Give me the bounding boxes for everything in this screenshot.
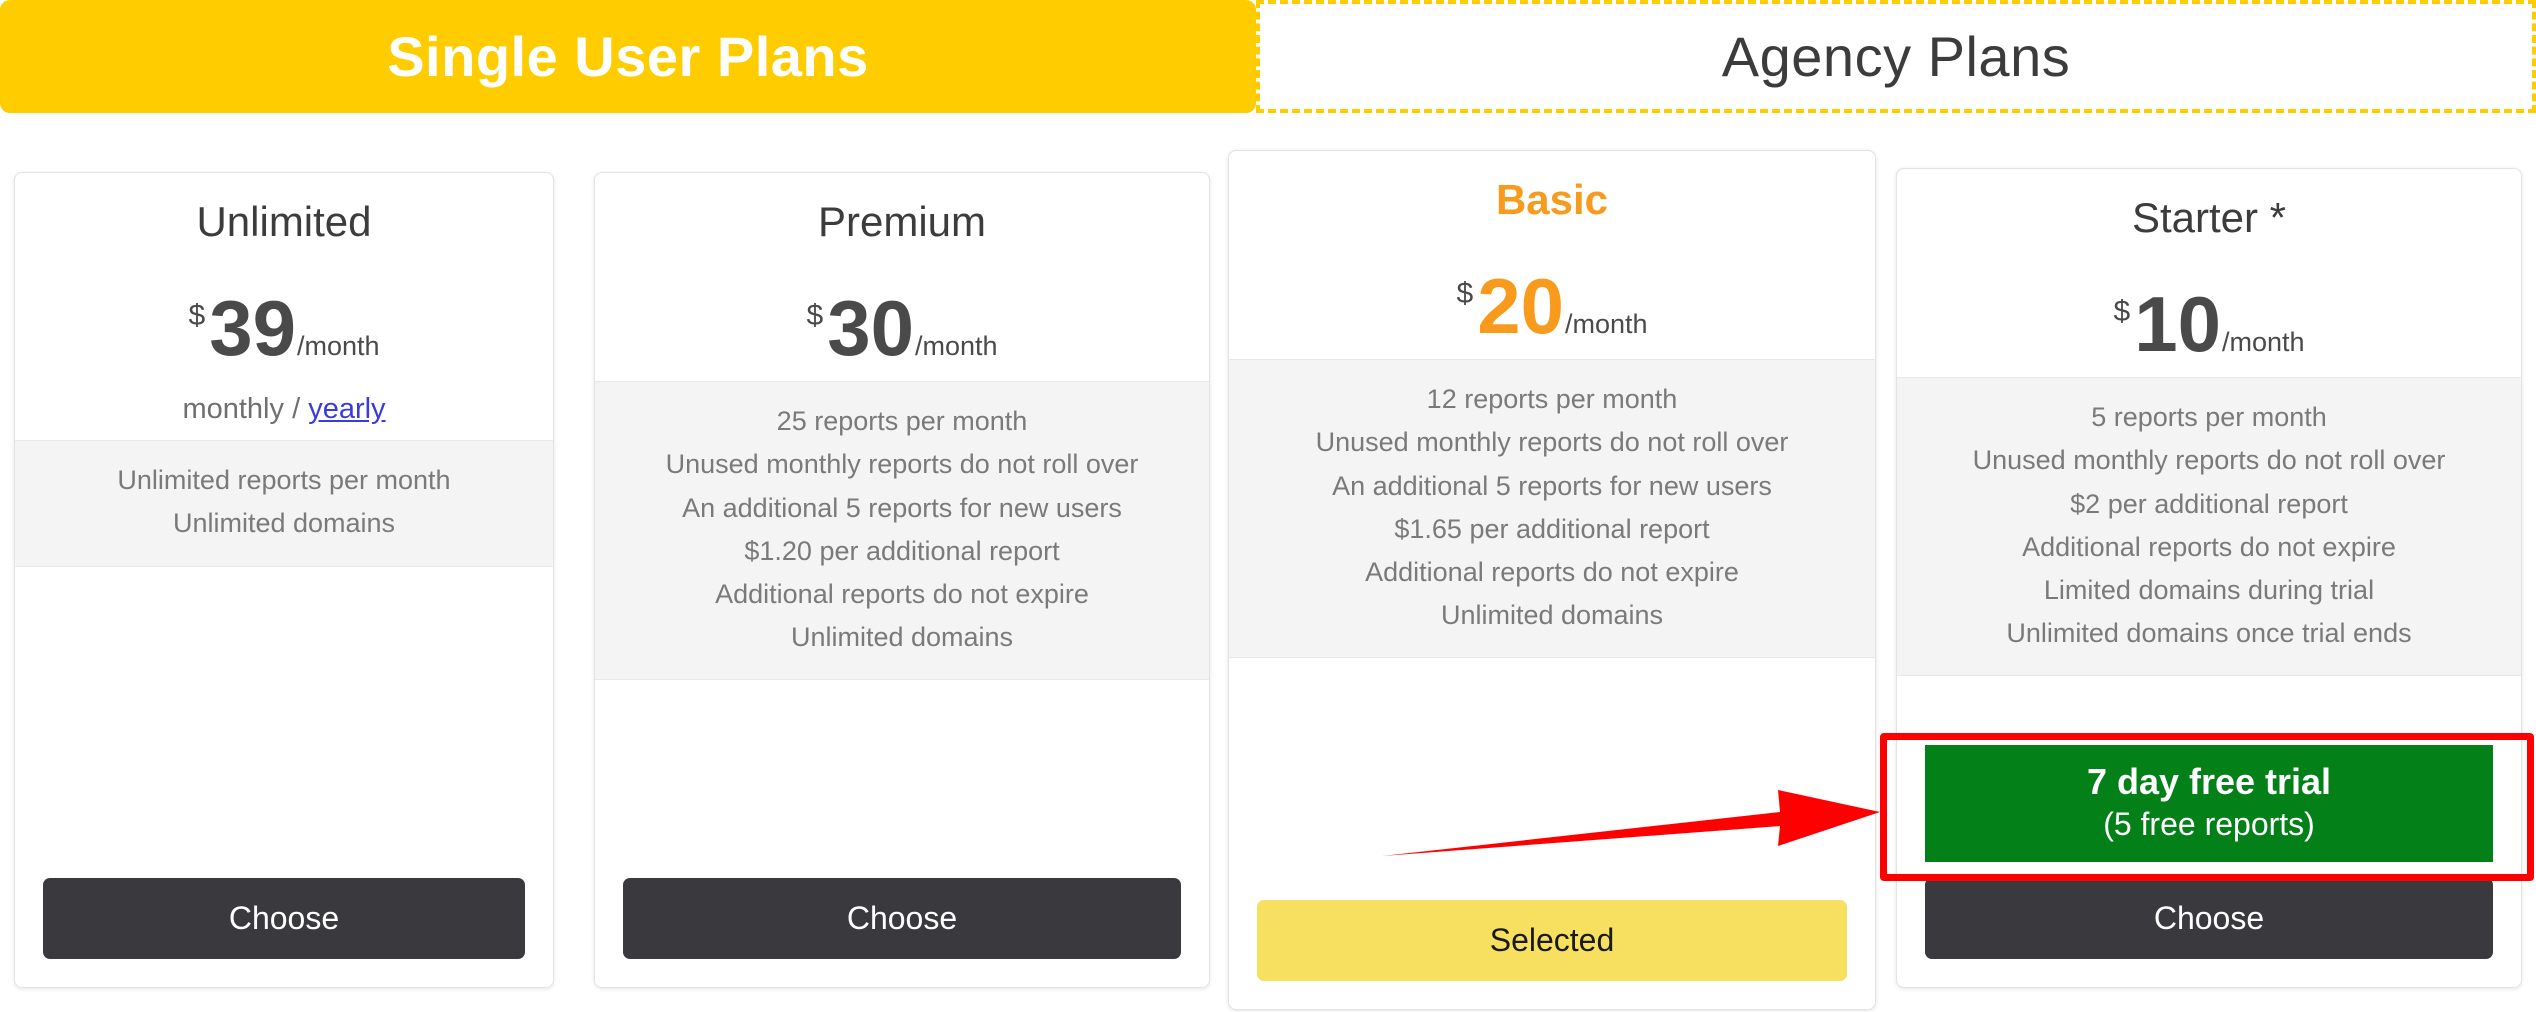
price-period: /month <box>1565 309 1648 340</box>
feature-item: Unused monthly reports do not roll over <box>1245 421 1859 464</box>
plan-price: $ 30 /month <box>615 289 1189 367</box>
selected-button[interactable]: Selected <box>1257 900 1847 981</box>
plan-features: 25 reports per month Unused monthly repo… <box>595 381 1209 680</box>
plan-price: $ 20 /month <box>1249 267 1855 345</box>
feature-item: An additional 5 reports for new users <box>611 487 1193 530</box>
plan-actions: 7 day free trial (5 free reports) Choose <box>1897 676 2521 987</box>
billing-monthly-label: monthly <box>182 393 284 425</box>
plan-actions: Selected <box>1229 658 1875 1009</box>
feature-item: 5 reports per month <box>1913 396 2505 439</box>
plan-features: 12 reports per month Unused monthly repo… <box>1229 359 1875 658</box>
billing-toggle: monthly / yearly <box>35 393 533 426</box>
feature-item: Unlimited domains <box>31 502 537 545</box>
price-amount: 10 <box>2134 285 2221 363</box>
currency-symbol: $ <box>189 299 206 333</box>
plan-title: Premium <box>615 199 1189 245</box>
feature-item: Limited domains during trial <box>1913 569 2505 612</box>
pricing-cards: Unlimited $ 39 /month monthly / yearly U… <box>0 0 2536 1012</box>
feature-item: $1.20 per additional report <box>611 530 1193 573</box>
free-trial-button[interactable]: 7 day free trial (5 free reports) <box>1925 745 2493 862</box>
plan-features: Unlimited reports per month Unlimited do… <box>15 440 553 566</box>
price-amount: 30 <box>827 289 914 367</box>
plan-title: Basic <box>1249 177 1855 223</box>
plan-title: Starter * <box>1917 195 2501 241</box>
plan-actions: Choose <box>15 567 553 987</box>
feature-item: Additional reports do not expire <box>611 573 1193 616</box>
plan-features: 5 reports per month Unused monthly repor… <box>1897 377 2521 676</box>
price-amount: 20 <box>1477 267 1564 345</box>
billing-separator: / <box>292 393 300 425</box>
feature-item: $2 per additional report <box>1913 483 2505 526</box>
feature-item: An additional 5 reports for new users <box>1245 465 1859 508</box>
feature-item: Unlimited domains once trial ends <box>1913 612 2505 655</box>
currency-symbol: $ <box>2114 295 2131 329</box>
plan-header: Starter * $ 10 /month <box>1897 169 2521 377</box>
plan-header: Basic $ 20 /month <box>1229 151 1875 359</box>
currency-symbol: $ <box>1457 277 1474 311</box>
feature-item: Additional reports do not expire <box>1245 551 1859 594</box>
choose-button[interactable]: Choose <box>1925 878 2493 959</box>
plan-price: $ 10 /month <box>1917 285 2501 363</box>
choose-button[interactable]: Choose <box>43 878 525 959</box>
feature-item: Unused monthly reports do not roll over <box>1913 439 2505 482</box>
feature-item: Unlimited reports per month <box>31 459 537 502</box>
feature-item: Additional reports do not expire <box>1913 526 2505 569</box>
price-period: /month <box>915 331 998 362</box>
choose-button[interactable]: Choose <box>623 878 1181 959</box>
plan-card-unlimited[interactable]: Unlimited $ 39 /month monthly / yearly U… <box>14 172 554 988</box>
feature-item: Unused monthly reports do not roll over <box>611 443 1193 486</box>
billing-yearly-link[interactable]: yearly <box>308 393 385 425</box>
currency-symbol: $ <box>807 299 824 333</box>
plan-title: Unlimited <box>35 199 533 245</box>
plan-header: Premium $ 30 /month <box>595 173 1209 381</box>
feature-item: Unlimited domains <box>611 616 1193 659</box>
plan-header: Unlimited $ 39 /month monthly / yearly <box>15 173 553 440</box>
feature-item: Unlimited domains <box>1245 594 1859 637</box>
price-period: /month <box>2222 327 2305 358</box>
price-period: /month <box>297 331 380 362</box>
feature-item: 12 reports per month <box>1245 378 1859 421</box>
plan-card-basic[interactable]: Basic $ 20 /month 12 reports per month U… <box>1228 150 1876 1010</box>
plan-price: $ 39 /month <box>35 289 533 367</box>
free-trial-main-label: 7 day free trial <box>1925 759 2493 804</box>
free-trial-sub-label: (5 free reports) <box>1925 804 2493 844</box>
plan-card-premium[interactable]: Premium $ 30 /month 25 reports per month… <box>594 172 1210 988</box>
plan-actions: Choose <box>595 680 1209 987</box>
plan-card-starter[interactable]: Starter * $ 10 /month 5 reports per mont… <box>1896 168 2522 988</box>
feature-item: $1.65 per additional report <box>1245 508 1859 551</box>
price-amount: 39 <box>209 289 296 367</box>
feature-item: 25 reports per month <box>611 400 1193 443</box>
